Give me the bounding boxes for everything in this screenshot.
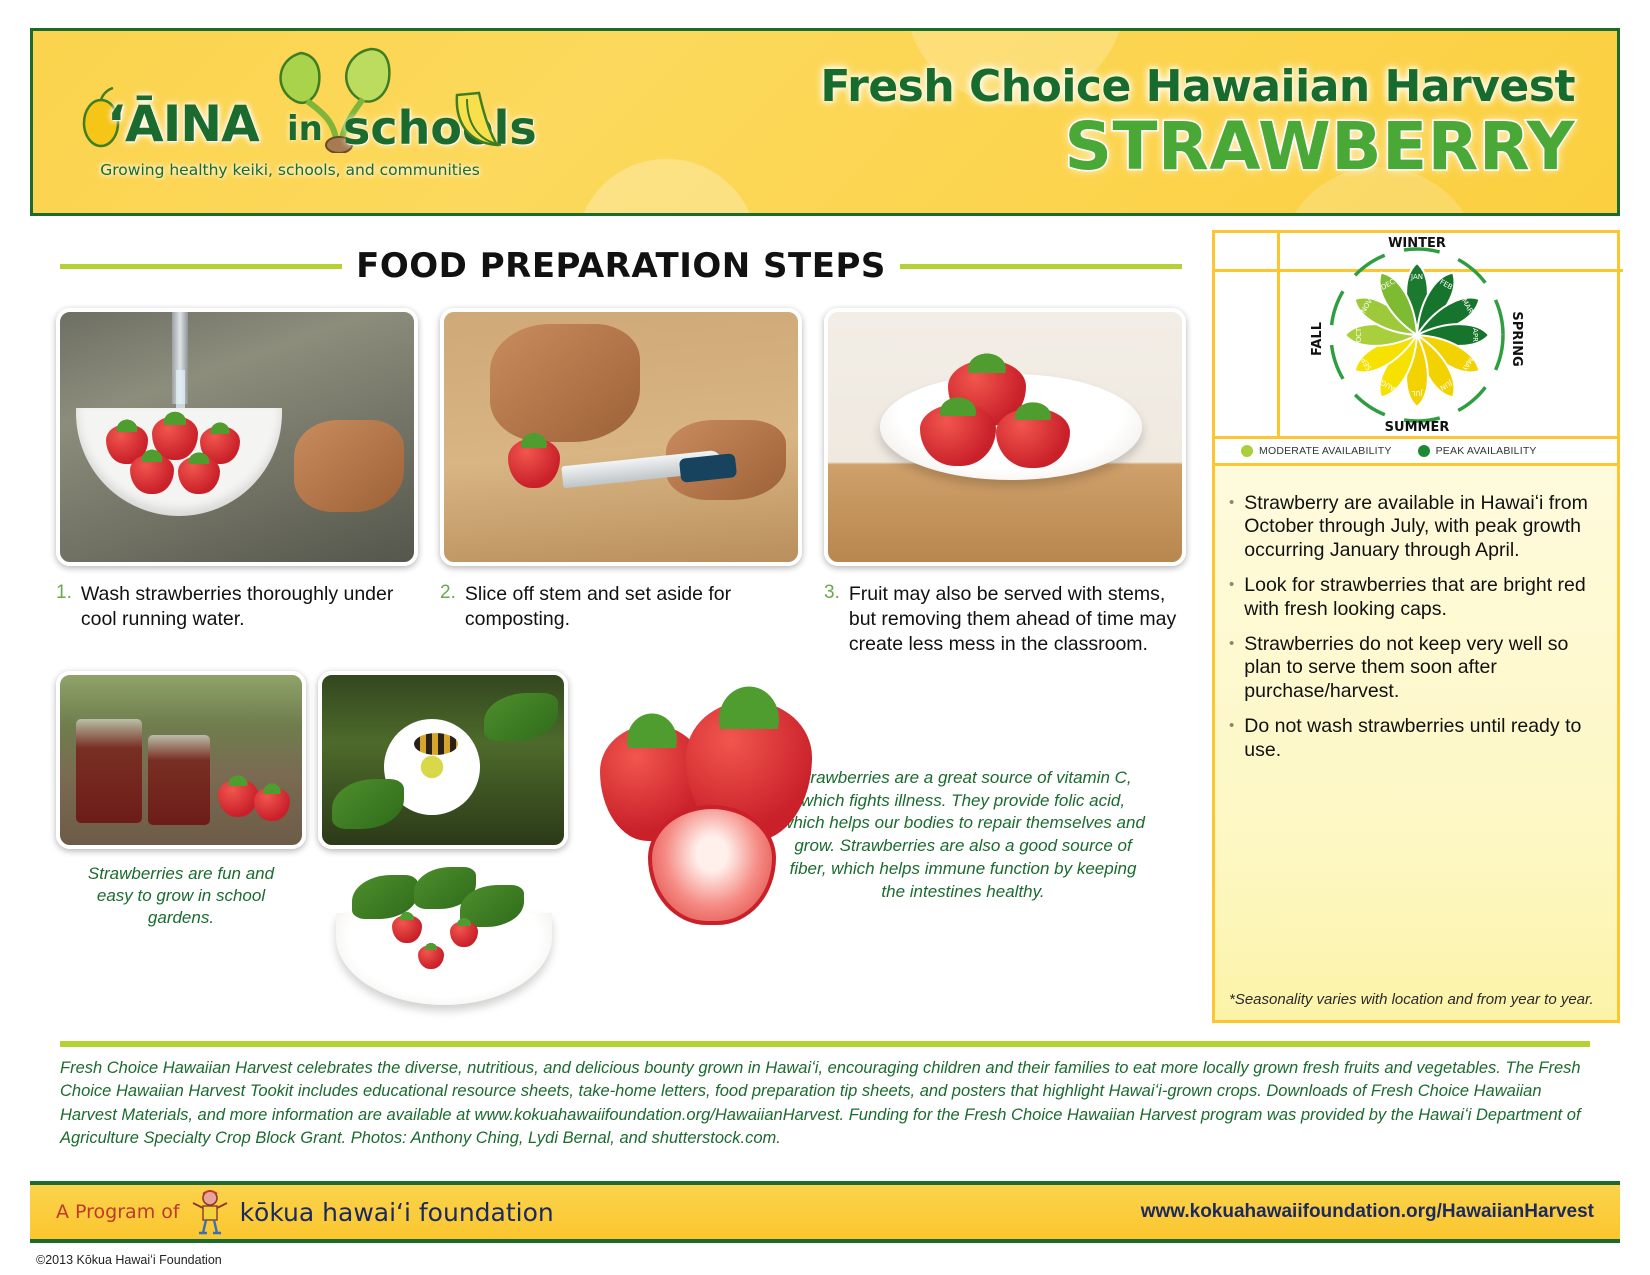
list-item: •Strawberry are available in Hawaiʻi fro… (1229, 492, 1599, 562)
about-text: Fresh Choice Hawaiian Harvest celebrates… (60, 1047, 1590, 1151)
photo-washing-strawberries (56, 308, 418, 566)
wheel-month-label: JUL (1411, 389, 1423, 397)
logo-tagline: Growing healthy keiki, schools, and comm… (75, 161, 505, 179)
step-number: 2. (440, 582, 456, 632)
seasonality-sidebar: JANFEBMARAPRMAYJUNJULAUGSEPOCTNOVDEC WIN… (1212, 224, 1620, 1029)
step-number: 1. (56, 582, 72, 632)
copyright-notice: ©2013 Kōkua Hawaiʻi Foundation (36, 1253, 222, 1267)
left-column: FOOD PREPARATION STEPS (30, 224, 1212, 1029)
preparation-steps: 1. Wash strawberries thoroughly under co… (30, 286, 1212, 657)
wheel-month-label: OCT (1355, 327, 1363, 342)
fact-text: Do not wash strawberries until ready to … (1244, 715, 1599, 762)
section-title: FOOD PREPARATION STEPS (356, 246, 886, 286)
poster-header: ʻĀINA in schools Growing healthy keiki, … (30, 28, 1620, 216)
prep-step-2: 2. Slice off stem and set aside for comp… (440, 308, 802, 657)
bullet-icon: • (1229, 715, 1234, 762)
bullet-icon: • (1229, 574, 1234, 621)
bullet-icon: • (1229, 633, 1234, 703)
season-label-fall: FALL (1311, 322, 1325, 356)
legend-label-peak: PEAK AVAILABILITY (1436, 445, 1537, 457)
hand-shape (490, 324, 640, 442)
banana-icon (449, 89, 505, 153)
jam-jar-shape (76, 719, 142, 823)
logo-text-aina: ʻĀINA (107, 95, 259, 153)
logo-text-in: in (287, 109, 323, 149)
seasonality-wheel-box: JANFEBMARAPRMAYJUNJULAUGSEPOCTNOVDEC WIN… (1212, 230, 1620, 436)
season-label-winter: WINTER (1388, 236, 1446, 251)
lower-gallery: Strawberries are fun and easy to grow in… (30, 657, 1212, 1029)
wheel-month-label: JAN (1410, 273, 1423, 281)
prep-step-1-text: 1. Wash strawberries thoroughly under co… (56, 582, 418, 632)
bee-and-salad-block (318, 671, 568, 1029)
photo-strawberries-whole-and-halved (590, 685, 850, 915)
photo-bee-on-strawberry-flower (318, 671, 568, 849)
prep-step-2-text: 2. Slice off stem and set aside for comp… (440, 582, 802, 632)
step-number: 3. (824, 582, 840, 657)
photo-strawberries-on-plate (824, 308, 1186, 566)
section-heading: FOOD PREPARATION STEPS (30, 234, 1212, 286)
photo-strawberry-spinach-salad (318, 859, 568, 1029)
poster-title-block: Fresh Choice Hawaiian Harvest STRAWBERRY (820, 61, 1575, 185)
peak-availability-dot (1418, 445, 1430, 457)
legend-item-moderate: MODERATE AVAILABILITY (1241, 445, 1392, 457)
garden-caption: Strawberries are fun and easy to grow in… (56, 863, 306, 929)
season-label-summer: SUMMER (1385, 420, 1450, 435)
program-of-block: A Program of kōkua hawaiʻi foundation (56, 1189, 554, 1235)
legend-item-peak: PEAK AVAILABILITY (1418, 445, 1537, 457)
crop-facts-list: •Strawberry are available in Hawaiʻi fro… (1229, 492, 1599, 762)
wheel-month-label: APR (1471, 328, 1479, 342)
moderate-availability-dot (1241, 445, 1253, 457)
hand-shape (294, 420, 404, 512)
program-of-label: A Program of (56, 1201, 180, 1223)
seasonality-footnote: *Seasonality varies with location and fr… (1229, 991, 1603, 1010)
strawberry-shape (254, 787, 290, 821)
heading-rule-right (900, 264, 1182, 269)
strawberry-shape (218, 779, 258, 817)
step-instruction: Wash strawberries thoroughly under cool … (81, 582, 418, 632)
leaf-shape (484, 693, 558, 741)
footer-url[interactable]: www.kokuahawaiifoundation.org/HawaiianHa… (1141, 1201, 1594, 1223)
bullet-icon: • (1229, 492, 1234, 562)
step-instruction: Fruit may also be served with stems, but… (849, 582, 1186, 657)
fact-text: Strawberry are available in Hawaiʻi from… (1244, 492, 1599, 562)
salad-bowl-shape (336, 913, 552, 1005)
list-item: •Look for strawberries that are bright r… (1229, 574, 1599, 621)
jam-jar-shape (148, 735, 210, 825)
prep-step-3-text: 3. Fruit may also be served with stems, … (824, 582, 1186, 657)
prep-step-1: 1. Wash strawberries thoroughly under co… (56, 308, 418, 657)
season-label-spring: SPRING (1509, 311, 1523, 366)
fact-text: Look for strawberries that are bright re… (1244, 574, 1599, 621)
salad-photo-block (318, 859, 568, 1029)
prep-step-3: 3. Fruit may also be served with stems, … (824, 308, 1186, 657)
poster: ʻĀINA in schools Growing healthy keiki, … (0, 0, 1650, 1275)
photo-strawberry-jam-jars (56, 671, 306, 849)
poster-crop-name: STRAWBERRY (820, 108, 1575, 185)
step-instruction: Slice off stem and set aside for compost… (465, 582, 802, 632)
poster-title: Fresh Choice Hawaiian Harvest (820, 61, 1575, 112)
heading-rule-left (60, 264, 342, 269)
strawberry-shape (508, 438, 560, 488)
seasonality-legend: MODERATE AVAILABILITY PEAK AVAILABILITY (1212, 436, 1620, 463)
fact-text: Strawberries do not keep very well so pl… (1244, 633, 1599, 703)
guide-line-vertical (1277, 233, 1280, 439)
footer-bar: A Program of kōkua hawaiʻi foundation ww… (30, 1181, 1620, 1243)
seasonality-wheel-svg: JANFEBMARAPRMAYJUNJULAUGSEPOCTNOVDEC WIN… (1311, 235, 1523, 435)
about-section: Fresh Choice Hawaiian Harvest celebrates… (60, 1041, 1590, 1151)
photo-slicing-stem (440, 308, 802, 566)
garden-photo-block: Strawberries are fun and easy to grow in… (56, 671, 306, 1029)
keiki-figure-icon (190, 1189, 230, 1235)
seasonality-wheel: JANFEBMARAPRMAYJUNJULAUGSEPOCTNOVDEC WIN… (1311, 235, 1523, 440)
legend-label-moderate: MODERATE AVAILABILITY (1259, 445, 1392, 457)
aina-in-schools-logo: ʻĀINA in schools Growing healthy keiki, … (75, 49, 505, 179)
leaf-shape (332, 779, 404, 829)
foundation-name: kōkua hawaiʻi foundation (240, 1198, 554, 1227)
list-item: •Strawberries do not keep very well so p… (1229, 633, 1599, 703)
strawberry-half-shape (648, 805, 776, 925)
crop-facts-panel: •Strawberry are available in Hawaiʻi fro… (1212, 463, 1620, 1023)
poster-body: FOOD PREPARATION STEPS (30, 224, 1620, 1029)
list-item: •Do not wash strawberries until ready to… (1229, 715, 1599, 762)
bee-shape (414, 733, 458, 755)
logo-text-schools: schools (343, 101, 537, 155)
